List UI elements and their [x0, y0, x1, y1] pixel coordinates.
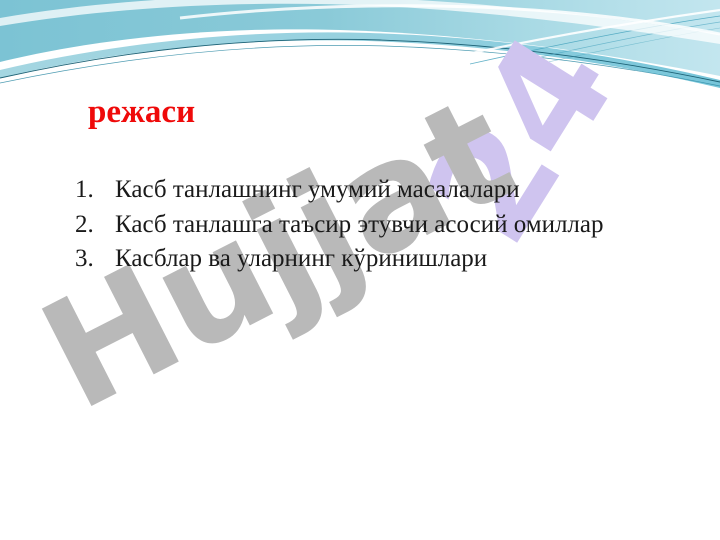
slide-content: режаси 1. Касб танлашнинг умумий масалал… [0, 0, 720, 540]
slide-canvas: 24 Hujjat режаси 1. Касб танлашнинг умум… [0, 0, 720, 540]
list-item: 3. Касблар ва уларнинг кўринишлари [75, 243, 635, 276]
list-item: 2. Касб танлашга таъсир этувчи асосий ом… [75, 209, 635, 242]
list-item-label: Касблар ва уларнинг кўринишлари [115, 245, 487, 272]
list-item-marker: 1. [75, 174, 109, 207]
list-item-label: Касб танлашнинг умумий масалалари [115, 176, 520, 203]
list-item-label: Касб танлашга таъсир этувчи асосий омилл… [115, 211, 604, 238]
list-item: 1. Касб танлашнинг умумий масалалари [75, 174, 635, 207]
list-item-marker: 3. [75, 243, 109, 276]
list-item-marker: 2. [75, 209, 109, 242]
agenda-list: 1. Касб танлашнинг умумий масалалари 2. … [75, 174, 635, 278]
page-title: режаси [88, 94, 195, 130]
